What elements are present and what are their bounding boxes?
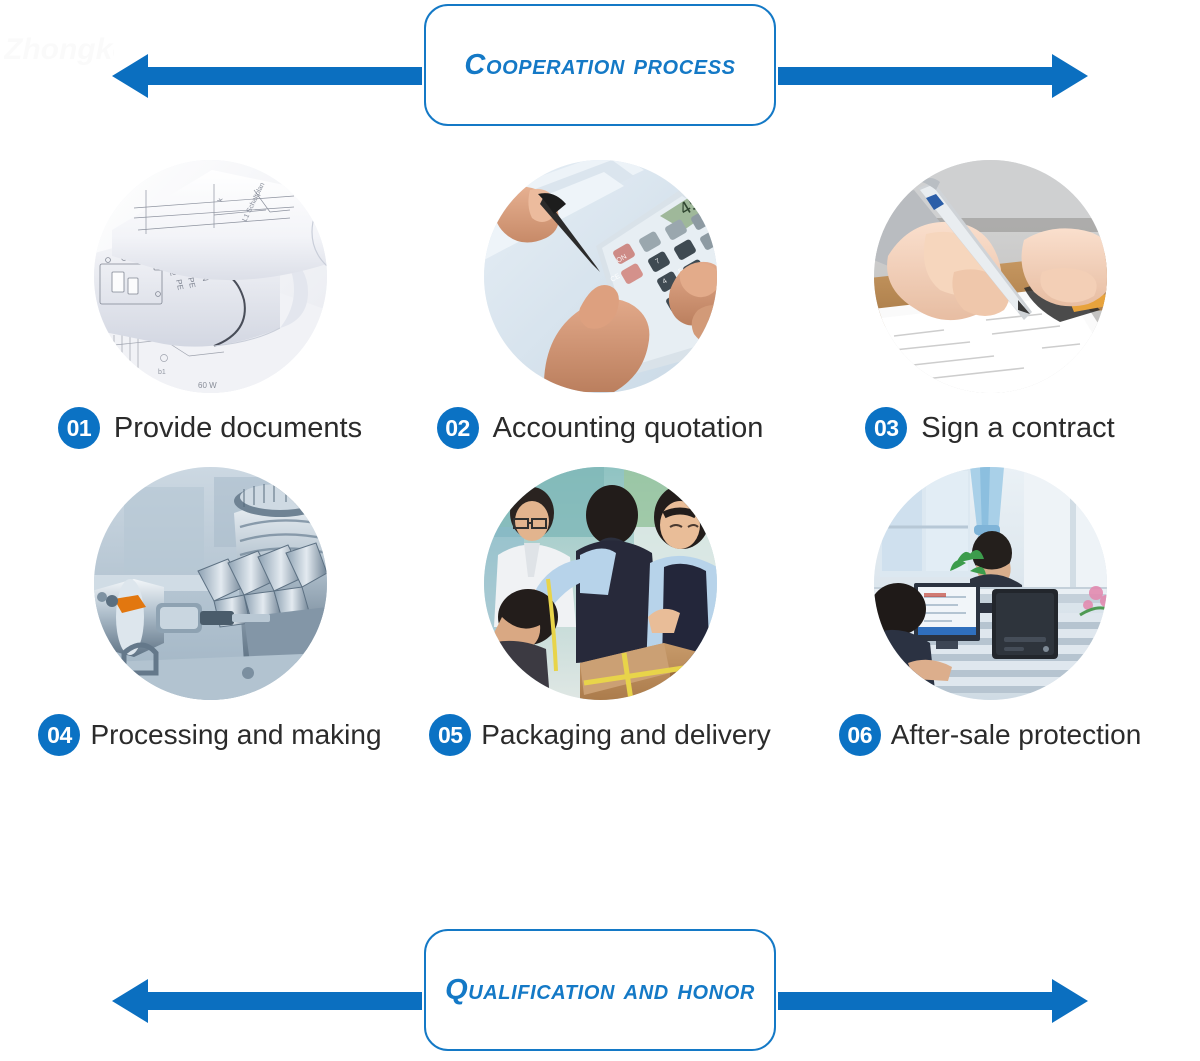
packaging-workers-photo xyxy=(484,467,717,700)
step-label-04: Processing and making xyxy=(90,721,381,749)
bottom-banner-box: Qualification and honor xyxy=(424,929,776,1051)
step-label-02: Accounting quotation xyxy=(493,414,764,443)
step-badge-04: 04 xyxy=(38,714,80,756)
top-banner-title: Cooperation process xyxy=(464,51,735,80)
calculator-hands-photo: 4544 xyxy=(484,160,717,393)
step-label-05: Packaging and delivery xyxy=(481,721,771,749)
step-caption-05: 05 Packaging and delivery xyxy=(429,714,771,756)
step-caption-04: 04 Processing and making xyxy=(38,714,381,756)
step-item-05[interactable]: 05 Packaging and delivery xyxy=(405,467,795,756)
step-item-03[interactable]: 03 Sign a contract xyxy=(795,160,1185,449)
top-banner-box: Cooperation process xyxy=(424,4,776,126)
contract-signing-photo xyxy=(874,160,1107,393)
svg-text:b1: b1 xyxy=(158,369,166,376)
step-badge-03: 03 xyxy=(865,407,907,449)
step-label-06: After-sale protection xyxy=(891,721,1142,749)
blueprint-rolls-photo: b1 60 W PE PE xyxy=(94,160,327,393)
step-badge-06: 06 xyxy=(839,714,881,756)
arrow-right-icon xyxy=(778,53,1088,77)
bottom-banner: Qualification and honor xyxy=(0,925,1200,1055)
step-row-2: 04 Processing and making xyxy=(0,467,1200,756)
arrow-left-icon xyxy=(112,978,422,1002)
step-item-02[interactable]: 4544 xyxy=(405,160,795,449)
office-support-photo xyxy=(874,467,1107,700)
step-badge-01: 01 xyxy=(58,407,100,449)
step-caption-02: 02 Accounting quotation xyxy=(437,407,764,449)
step-badge-02: 02 xyxy=(437,407,479,449)
arrow-left-icon xyxy=(112,53,422,77)
step-item-04[interactable]: 04 Processing and making xyxy=(15,467,405,756)
step-caption-06: 06 After-sale protection xyxy=(839,714,1142,756)
step-label-03: Sign a contract xyxy=(921,414,1114,443)
step-row-1: b1 60 W PE PE xyxy=(0,160,1200,449)
arrow-right-icon xyxy=(778,978,1088,1002)
step-badge-05: 05 xyxy=(429,714,471,756)
svg-text:60 W: 60 W xyxy=(198,381,217,390)
step-item-06[interactable]: 06 After-sale protection xyxy=(795,467,1185,756)
step-label-01: Provide documents xyxy=(114,414,362,443)
cooperation-process-steps: b1 60 W PE PE xyxy=(0,160,1200,756)
top-banner: Cooperation process xyxy=(0,0,1200,130)
cnc-machining-photo xyxy=(94,467,327,700)
step-item-01[interactable]: b1 60 W PE PE xyxy=(15,160,405,449)
step-caption-01: 01 Provide documents xyxy=(58,407,362,449)
bottom-banner-title: Qualification and honor xyxy=(445,976,755,1005)
step-caption-03: 03 Sign a contract xyxy=(865,407,1114,449)
